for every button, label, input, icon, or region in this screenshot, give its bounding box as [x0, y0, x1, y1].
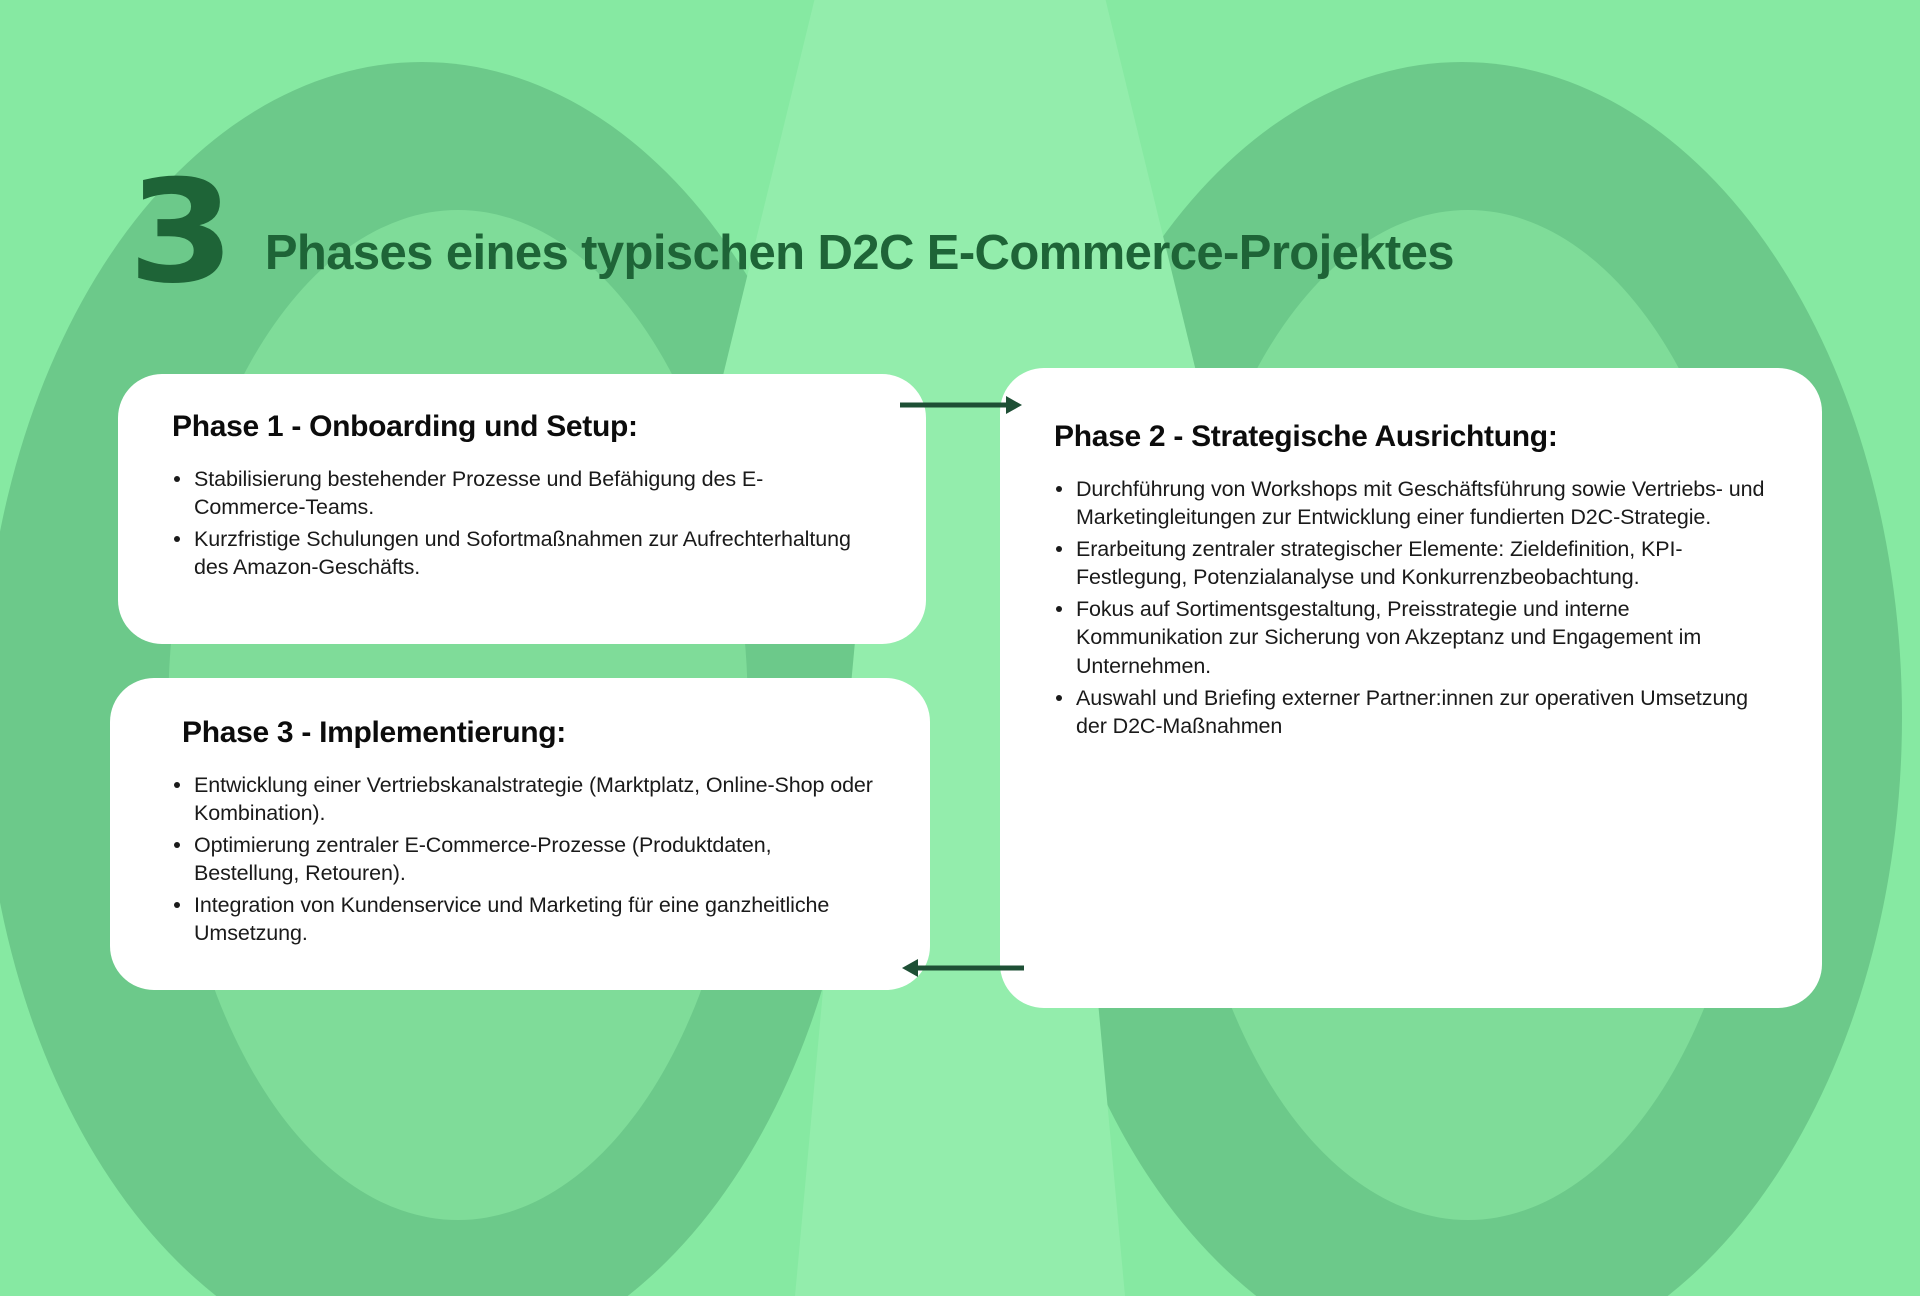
list-item: Integration von Kundenservice und Market…: [172, 891, 876, 948]
card-phase-2-bullet-list: Durchführung von Workshops mit Geschäfts…: [1054, 475, 1768, 741]
list-item: Entwicklung einer Vertriebskanalstrategi…: [172, 771, 876, 828]
slide-root: 3 Phases eines typischen D2C E-Commerce-…: [0, 0, 1920, 1296]
card-phase-2-title: Phase 2 - Strategische Ausrichtung:: [1054, 420, 1768, 455]
arrow-left-icon: [898, 955, 1026, 986]
arrow-right-icon: [898, 392, 1026, 423]
card-phase-1-title: Phase 1 - Onboarding und Setup:: [172, 410, 872, 445]
list-item: Kurzfristige Schulungen und Sofortmaßnah…: [172, 525, 872, 582]
slide-header: 3 Phases eines typischen D2C E-Commerce-…: [128, 175, 1454, 291]
card-phase-3-bullet-list: Entwicklung einer Vertriebskanalstrategi…: [172, 771, 876, 949]
phase-count-number: 3: [128, 175, 230, 291]
card-phase-1-bullet-list: Stabilisierung bestehender Prozesse und …: [172, 465, 872, 582]
list-item: Erarbeitung zentraler strategischer Elem…: [1054, 535, 1768, 592]
card-phase-1: Phase 1 - Onboarding und Setup: Stabilis…: [118, 374, 926, 644]
list-item: Stabilisierung bestehender Prozesse und …: [172, 465, 872, 522]
list-item: Auswahl und Briefing externer Partner:in…: [1054, 684, 1768, 741]
list-item: Fokus auf Sortimentsgestaltung, Preisstr…: [1054, 595, 1768, 681]
list-item: Durchführung von Workshops mit Geschäfts…: [1054, 475, 1768, 532]
list-item: Optimierung zentraler E-Commerce-Prozess…: [172, 831, 876, 888]
page-title: Phases eines typischen D2C E-Commerce-Pr…: [265, 225, 1454, 291]
card-phase-2: Phase 2 - Strategische Ausrichtung: Durc…: [1000, 368, 1822, 1008]
card-phase-3: Phase 3 - Implementierung: Entwicklung e…: [110, 678, 930, 990]
card-phase-3-title: Phase 3 - Implementierung:: [182, 716, 876, 751]
